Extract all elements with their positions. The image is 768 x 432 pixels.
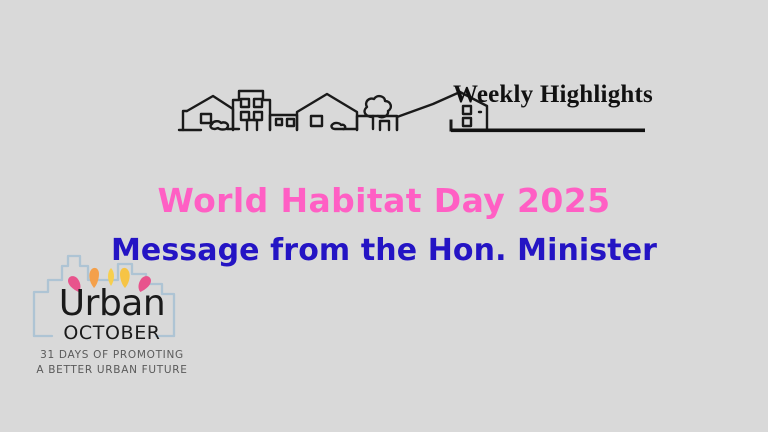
- urban-october-logo: Urban OCTOBER 31 DAYS OF PROMOTING A BET…: [22, 250, 202, 390]
- logo-tagline-line-2: A BETTER URBAN FUTURE: [22, 363, 202, 378]
- weekly-highlights-banner: Weekly Highlights: [175, 72, 650, 140]
- logo-tagline-line-1: 31 DAYS OF PROMOTING: [22, 348, 202, 363]
- logo-tagline: 31 DAYS OF PROMOTING A BETTER URBAN FUTU…: [22, 348, 202, 378]
- page-title: World Habitat Day 2025: [0, 182, 768, 220]
- urban-october-logomark: Urban OCTOBER: [22, 250, 202, 345]
- logo-wordmark-october: OCTOBER: [22, 324, 202, 343]
- logo-wordmark-urban: Urban: [22, 286, 202, 322]
- weekly-highlights-label: Weekly Highlights: [453, 82, 653, 107]
- slide-canvas: Weekly Highlights World Habitat Day 2025…: [0, 0, 768, 432]
